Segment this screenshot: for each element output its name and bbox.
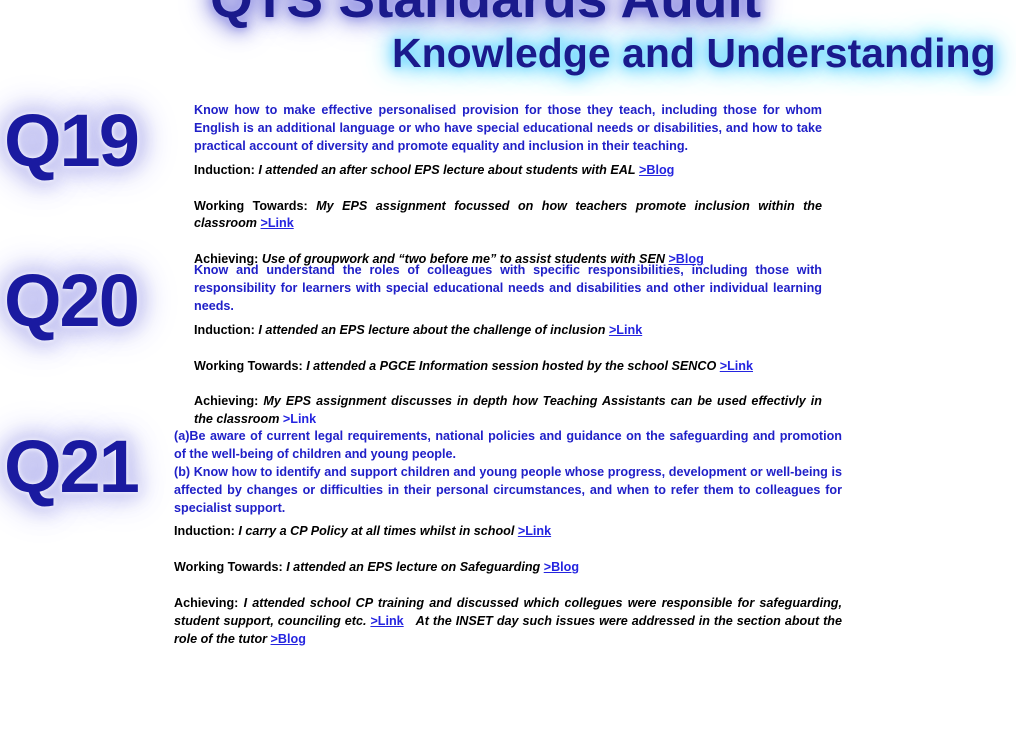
standard-description: (a)Be aware of current legal requirement… [174,428,842,464]
page-subtitle: Knowledge and Understanding [392,30,996,77]
standard-body: (a)Be aware of current legal requirement… [174,428,842,649]
evidence-label: Induction: [194,323,255,337]
evidence-row: Induction: I attended an EPS lecture abo… [194,322,822,340]
evidence-label: Working Towards: [194,359,303,373]
standard-description: Know and understand the roles of colleag… [194,262,822,316]
standard-code-q19: Q19 [4,104,184,178]
page-banner: QTS Standards Audit Knowledge and Unders… [0,0,1016,96]
evidence-link[interactable]: >Blog [544,560,579,574]
evidence-label: Induction: [194,163,255,177]
evidence-text: I attended an EPS lecture on Safeguardin… [286,560,540,574]
evidence-text: I attended a PGCE Information session ho… [306,359,716,373]
standard-code-q21: Q21 [4,430,184,504]
evidence-row: Induction: I carry a CP Policy at all ti… [174,523,842,541]
standard-body: Know and understand the roles of colleag… [194,262,822,429]
standard-code-q20: Q20 [4,264,184,338]
evidence-link[interactable]: >Link [609,323,642,337]
evidence-link-secondary[interactable]: >Blog [271,632,306,646]
evidence-link[interactable]: >Link [261,216,294,230]
standard-body: Know how to make effective personalised … [194,102,822,269]
evidence-label: Working Towards: [194,199,308,213]
evidence-link[interactable]: >Blog [639,163,674,177]
evidence-text: I attended an EPS lecture about the chal… [258,323,605,337]
evidence-row: Achieving: I attended school CP training… [174,595,842,649]
standard-description: (b) Know how to identify and support chi… [174,464,842,518]
evidence-link[interactable]: >Link [283,412,316,426]
evidence-label: Induction: [174,524,235,538]
evidence-row: Working Towards: I attended a PGCE Infor… [194,358,822,376]
evidence-label: Achieving: [174,596,238,610]
evidence-link[interactable]: >Link [720,359,753,373]
evidence-link[interactable]: >Link [370,614,403,628]
evidence-row: Achieving: My EPS assignment discusses i… [194,393,822,429]
page-title: QTS Standards Audit [210,0,761,30]
evidence-text: I attended an after school EPS lecture a… [258,163,635,177]
evidence-text: I carry a CP Policy at all times whilst … [238,524,514,538]
evidence-link[interactable]: >Link [518,524,551,538]
evidence-label: Achieving: [194,394,258,408]
evidence-row: Working Towards: My EPS assignment focus… [194,198,822,234]
evidence-row: Working Towards: I attended an EPS lectu… [174,559,842,577]
evidence-row: Induction: I attended an after school EP… [194,162,822,180]
evidence-label: Working Towards: [174,560,283,574]
standard-description: Know how to make effective personalised … [194,102,822,156]
